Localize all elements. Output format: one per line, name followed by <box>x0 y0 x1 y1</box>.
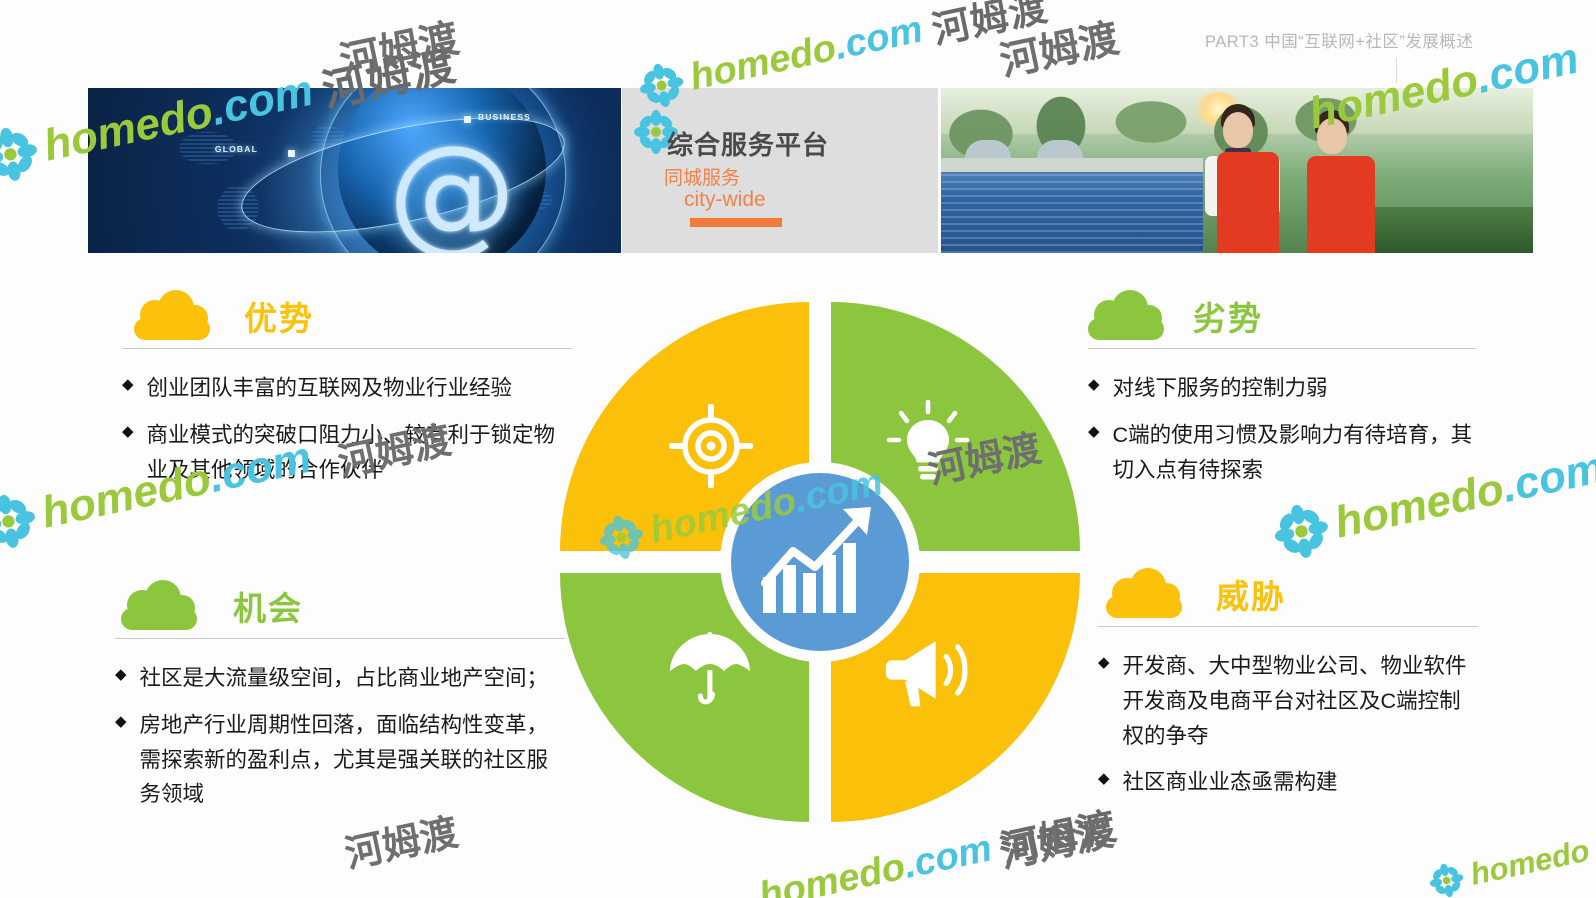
cloud-icon-green-weaknesses <box>1088 302 1164 340</box>
diamond-bullet-icon: ◆ <box>1098 765 1110 790</box>
watermark-brand: homedo <box>1467 833 1592 893</box>
diamond-bullet-icon: ◆ <box>122 418 134 443</box>
label-global: GLOBAL <box>215 144 258 154</box>
watermark-domain: .com <box>1498 443 1596 513</box>
list-item: ◆ 房地产行业周期性回落，面临结构性变革，需探索新的盈利点，尤其是强关联的社区服… <box>115 708 565 812</box>
swot-block-weaknesses: 劣势 ◆ 对线下服务的控制力弱 ◆ C端的使用习惯及影响力有待培育，其切入点有待… <box>1088 292 1476 499</box>
list-item: ◆ 社区商业业态亟需构建 <box>1098 765 1478 800</box>
diamond-bullet-icon: ◆ <box>115 708 127 733</box>
diamond-bullet-icon: ◆ <box>1088 371 1100 396</box>
swot-block-threats: 威胁 ◆ 开发商、大中型物业公司、物业软件开发商及电商平台对社区及C端控制权的争… <box>1098 570 1478 812</box>
section-divider-weaknesses <box>1088 348 1476 349</box>
platform-title: 综合服务平台 <box>667 125 829 162</box>
homedo-flower-logo-icon <box>0 122 42 186</box>
watermark: homedo <box>1426 833 1592 898</box>
bullet-list-threats: ◆ 开发商、大中型物业公司、物业软件开发商及电商平台对社区及C端控制权的争夺 ◆… <box>1098 649 1478 800</box>
at-symbol-icon: @ <box>388 130 516 253</box>
list-item: ◆ 开发商、大中型物业公司、物业软件开发商及电商平台对社区及C端控制权的争夺 <box>1098 649 1478 753</box>
watermark-brand: homedo <box>756 846 909 898</box>
platform-english-label: city-wide <box>684 188 766 212</box>
swot-title-weaknesses: 劣势 <box>1193 292 1263 340</box>
diamond-bullet-icon: ◆ <box>115 661 127 686</box>
wheel-hub-circle <box>731 473 909 651</box>
cloud-icon-orange-strengths <box>134 302 210 340</box>
list-item: ◆ 社区是大流量级空间，占比商业地产空间； <box>115 661 565 696</box>
swot-block-strengths: 优势 ◆ 创业团队丰富的互联网及物业行业经验 ◆ 商业模式的突破口阻力小、较有利… <box>122 292 572 499</box>
diamond-bullet-icon: ◆ <box>1088 418 1100 443</box>
umbrella-icon <box>664 622 756 714</box>
lightbulb-icon <box>882 398 974 490</box>
section-divider-strengths <box>122 348 572 349</box>
bullet-list-opportunities: ◆ 社区是大流量级空间，占比商业地产空间； ◆ 房地产行业周期性回落，面临结构性… <box>115 661 565 812</box>
page-title: PART3 中国“互联网+社区”发展概述 <box>1205 28 1473 52</box>
homedo-flower-logo-icon <box>1269 499 1333 563</box>
list-item: ◆ 对线下服务的控制力弱 <box>1088 371 1476 406</box>
property-staff-photo <box>941 88 1533 253</box>
swot-title-opportunities: 机会 <box>233 582 303 630</box>
swimming-pool <box>941 172 1203 253</box>
watermark-chinese: 河姆渡 <box>926 0 1052 54</box>
node-dot-global <box>288 150 295 157</box>
garden-hedge <box>1371 207 1533 253</box>
internet-globe-banner-image: @ GLOBAL BUSINESS <box>88 88 621 253</box>
section-divider-threats <box>1098 626 1478 627</box>
watermark-chinese: 河姆渡 <box>994 6 1123 88</box>
diamond-bullet-icon: ◆ <box>122 371 134 396</box>
bullet-list-strengths: ◆ 创业团队丰富的互联网及物业行业经验 ◆ 商业模式的突破口阻力小、较有利于锁定… <box>122 371 572 487</box>
watermark-domain: .com <box>831 8 927 69</box>
diamond-bullet-icon: ◆ <box>1098 649 1110 674</box>
swot-title-threats: 威胁 <box>1216 570 1286 618</box>
section-divider-opportunities <box>115 638 565 639</box>
accent-underline-bar <box>690 218 782 227</box>
label-business: BUSINESS <box>478 112 531 122</box>
header-divider-tick <box>1396 58 1397 84</box>
watermark-domain: .com <box>900 827 996 888</box>
bullet-list-weaknesses: ◆ 对线下服务的控制力弱 ◆ C端的使用习惯及影响力有待培育，其切入点有待探索 <box>1088 371 1476 487</box>
cloud-icon-orange-threats <box>1106 580 1182 618</box>
service-platform-panel: 综合服务平台 同城服务 city-wide <box>622 88 938 253</box>
wheel-hub <box>720 462 920 662</box>
list-item: ◆ 商业模式的突破口阻力小、较有利于锁定物业及其他领域的合作伙伴 <box>122 418 572 488</box>
homedo-flower-logo-icon <box>1426 860 1466 898</box>
slide-canvas: PART3 中国“互联网+社区”发展概述 @ GLOBAL BUSINESS <box>0 0 1596 898</box>
homedo-flower-logo-icon <box>0 489 40 553</box>
cloud-icon-green-opportunities <box>121 592 197 630</box>
list-item: ◆ C端的使用习惯及影响力有待培育，其切入点有待探索 <box>1088 418 1476 488</box>
swot-block-opportunities: 机会 ◆ 社区是大流量级空间，占比商业地产空间； ◆ 房地产行业周期性回落，面临… <box>115 582 565 824</box>
platform-subtitle: 同城服务 <box>664 163 740 190</box>
list-item: ◆ 创业团队丰富的互联网及物业行业经验 <box>122 371 572 406</box>
node-dot-business <box>464 116 471 123</box>
watermark-chinese: 河姆渡 <box>334 6 463 88</box>
swot-wheel-diagram <box>560 302 1080 822</box>
target-icon <box>665 400 757 492</box>
growth-chart-icon <box>759 503 881 621</box>
megaphone-icon <box>882 624 974 716</box>
swot-title-strengths: 优势 <box>244 292 314 340</box>
